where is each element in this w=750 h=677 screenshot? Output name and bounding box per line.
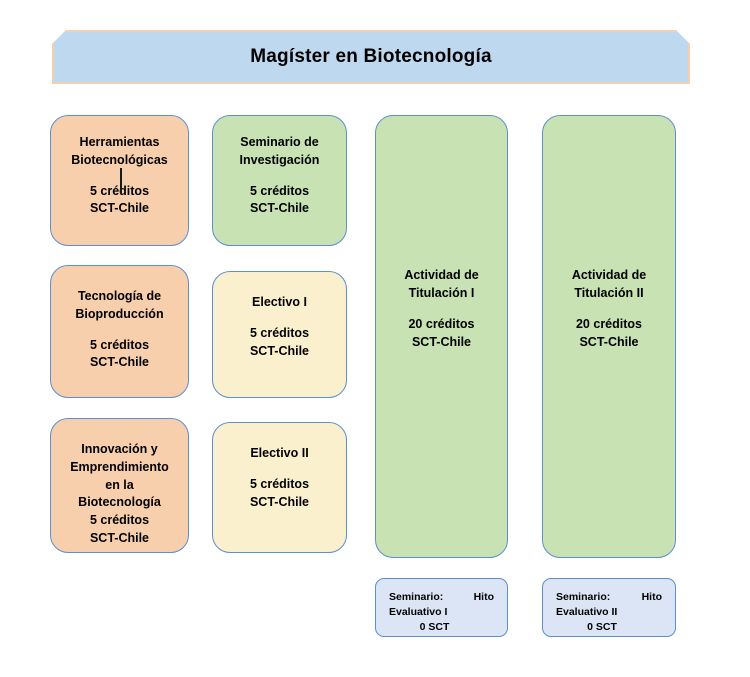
- course-card-actividad-de-titulacion-i[interactable]: Actividad de Titulación I 20 créditos SC…: [375, 115, 508, 558]
- course-title-line: en la: [105, 477, 134, 495]
- course-credits-line: 5 créditos: [90, 337, 149, 355]
- course-title-line: Emprendimiento: [70, 459, 169, 477]
- course-title-line: Biotecnológicas: [71, 152, 168, 170]
- page-title: Magíster en Biotecnología: [250, 47, 491, 68]
- milestone-credits: 0 SCT: [389, 620, 494, 635]
- course-card-electivo-ii[interactable]: Electivo II 5 créditos SCT-Chile: [212, 422, 347, 553]
- course-card-seminario-de-investigacion[interactable]: Seminario de Investigación 5 créditos SC…: [212, 115, 347, 246]
- milestone-kind: Hito: [474, 590, 494, 605]
- course-title-line: Bioproducción: [75, 306, 163, 324]
- course-title-line: Biotecnología: [78, 494, 161, 512]
- text-cursor-artifact: [120, 168, 122, 194]
- course-title-line: Electivo I: [252, 294, 307, 312]
- course-credit-system-line: SCT-Chile: [90, 354, 149, 372]
- milestone-label: Seminario:: [389, 590, 443, 605]
- course-title-line: Investigación: [240, 152, 320, 170]
- course-title-line: Actividad de: [404, 266, 478, 284]
- course-credit-system-line: SCT-Chile: [250, 200, 309, 218]
- course-credit-system-line: SCT-Chile: [90, 530, 149, 548]
- milestone-header-row: Seminario: Hito: [389, 590, 494, 605]
- course-credits-line: 5 créditos: [250, 476, 309, 494]
- milestone-card-seminario-evaluativo-ii[interactable]: Seminario: Hito Evaluativo II 0 SCT: [542, 578, 676, 637]
- course-title-line: Herramientas: [80, 134, 160, 152]
- milestone-card-seminario-evaluativo-i[interactable]: Seminario: Hito Evaluativo I 0 SCT: [375, 578, 508, 637]
- milestone-name: Evaluativo I: [389, 605, 494, 620]
- milestone-credits: 0 SCT: [556, 620, 662, 635]
- course-title-line: Innovación y: [81, 441, 157, 459]
- milestone-kind: Hito: [642, 590, 662, 605]
- course-credit-system-line: SCT-Chile: [90, 200, 149, 218]
- course-credits-line: 5 créditos: [250, 325, 309, 343]
- course-title-line: Titulación II: [574, 284, 643, 302]
- course-card-innovacion-y-emprendimiento[interactable]: Innovación y Emprendimiento en la Biotec…: [50, 418, 189, 553]
- course-credits-line: 20 créditos: [576, 315, 642, 333]
- course-card-actividad-de-titulacion-ii[interactable]: Actividad de Titulación II 20 créditos S…: [542, 115, 676, 558]
- milestone-header-row: Seminario: Hito: [556, 590, 662, 605]
- milestone-label: Seminario:: [556, 590, 610, 605]
- program-title-banner: Magíster en Biotecnología: [52, 30, 690, 84]
- curriculum-diagram: Magíster en Biotecnología Herramientas B…: [0, 0, 750, 677]
- course-card-tecnologia-de-bioproduccion[interactable]: Tecnología de Bioproducción 5 créditos S…: [50, 265, 189, 398]
- course-credits-line: 20 créditos: [408, 315, 474, 333]
- course-card-herramientas-biotecnologicas[interactable]: Herramientas Biotecnológicas 5 créditos …: [50, 115, 189, 246]
- course-credit-system-line: SCT-Chile: [250, 343, 309, 361]
- course-credits-line: 5 créditos: [250, 183, 309, 201]
- course-title-line: Seminario de: [240, 134, 319, 152]
- course-title-line: Tecnología de: [78, 288, 161, 306]
- course-credit-system-line: SCT-Chile: [412, 333, 471, 351]
- course-credit-system-line: SCT-Chile: [579, 333, 638, 351]
- course-credits-line: 5 créditos: [90, 512, 149, 530]
- course-credit-system-line: SCT-Chile: [250, 494, 309, 512]
- course-title-line: Titulación I: [409, 284, 475, 302]
- course-title-line: Electivo II: [250, 445, 308, 463]
- course-title-line: Actividad de: [572, 266, 646, 284]
- milestone-name: Evaluativo II: [556, 605, 662, 620]
- course-card-electivo-i[interactable]: Electivo I 5 créditos SCT-Chile: [212, 271, 347, 398]
